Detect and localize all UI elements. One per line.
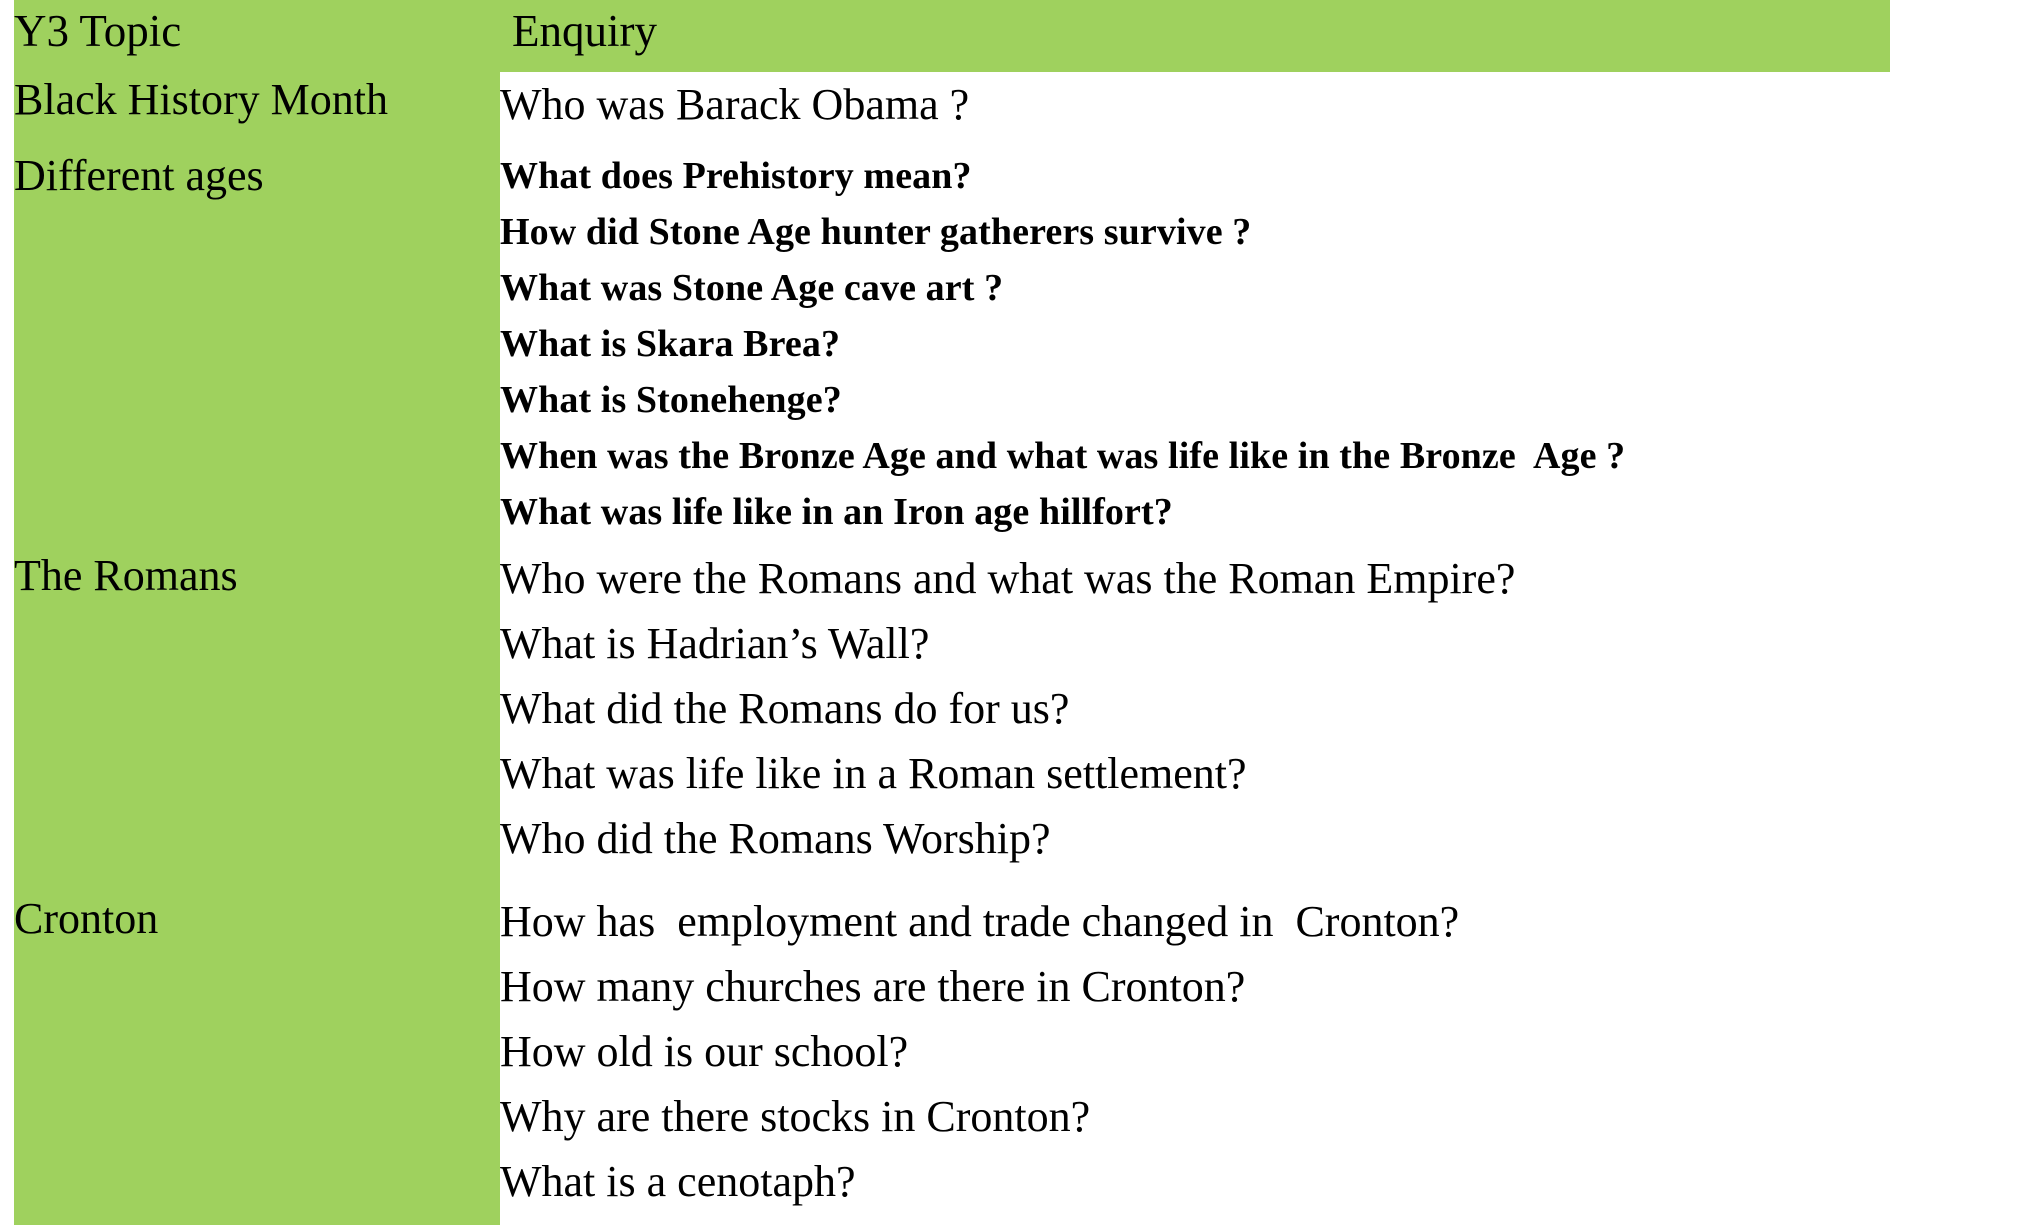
enquiry-question: What was life like in a Roman settlement… [500,741,1890,806]
topic-cell-different-ages: Different ages [14,140,500,540]
table-row: Black History Month Who was Barack Obama… [14,72,1890,140]
enquiry-question: How did Stone Age hunter gatherers survi… [500,204,1890,260]
topic-cell-black-history-month: Black History Month [14,72,500,140]
enquiry-question: Who did the Romans Worship? [500,806,1890,871]
enquiry-question: What is Stonehenge? [500,372,1890,428]
enquiry-cell-the-romans: Who were the Romans and what was the Rom… [500,540,1890,883]
enquiry-question: What is a cenotaph? [500,1149,1890,1214]
table-header-row: Y3 Topic Enquiry [14,0,1890,72]
enquiry-cell-cronton: How has employment and trade changed in … [500,883,1890,1225]
enquiry-question: What was life like in an Iron age hillfo… [500,484,1890,540]
enquiry-question: What is Hadrian’s Wall? [500,611,1890,676]
enquiry-question: What is Skara Brea? [500,316,1890,372]
enquiry-question: How old is our school? [500,1019,1890,1084]
column-header-enquiry: Enquiry [500,0,1890,72]
enquiry-cell-black-history-month: Who was Barack Obama ? [500,72,1890,140]
enquiry-question: What does Prehistory mean? [500,148,1890,204]
column-header-topic: Y3 Topic [14,0,500,72]
enquiry-question: Why are there stocks in Cronton? [500,1084,1890,1149]
y3-topic-enquiry-table: Y3 Topic Enquiry Black History Month Who… [14,0,1890,1225]
enquiry-cell-different-ages: What does Prehistory mean? How did Stone… [500,140,1890,540]
table-row: Different ages What does Prehistory mean… [14,140,1890,540]
table-row: Cronton How has employment and trade cha… [14,883,1890,1225]
enquiry-question: What did the Romans do for us? [500,676,1890,741]
table-row: The Romans Who were the Romans and what … [14,540,1890,883]
enquiry-question: How many churches are there in Cronton? [500,954,1890,1019]
topic-cell-the-romans: The Romans [14,540,500,883]
enquiry-question: When was the Bronze Age and what was lif… [500,428,1890,484]
enquiry-question: How has employment and trade changed in … [500,889,1890,954]
enquiry-question: Who were the Romans and what was the Rom… [500,546,1890,611]
table-body: Y3 Topic Enquiry Black History Month Who… [14,0,1890,1225]
topic-cell-cronton: Cronton [14,883,500,1225]
enquiry-question: Who was Barack Obama ? [500,72,1890,137]
enquiry-question: What was Stone Age cave art ? [500,260,1890,316]
slide-canvas: Y3 Topic Enquiry Black History Month Who… [0,0,2042,1229]
